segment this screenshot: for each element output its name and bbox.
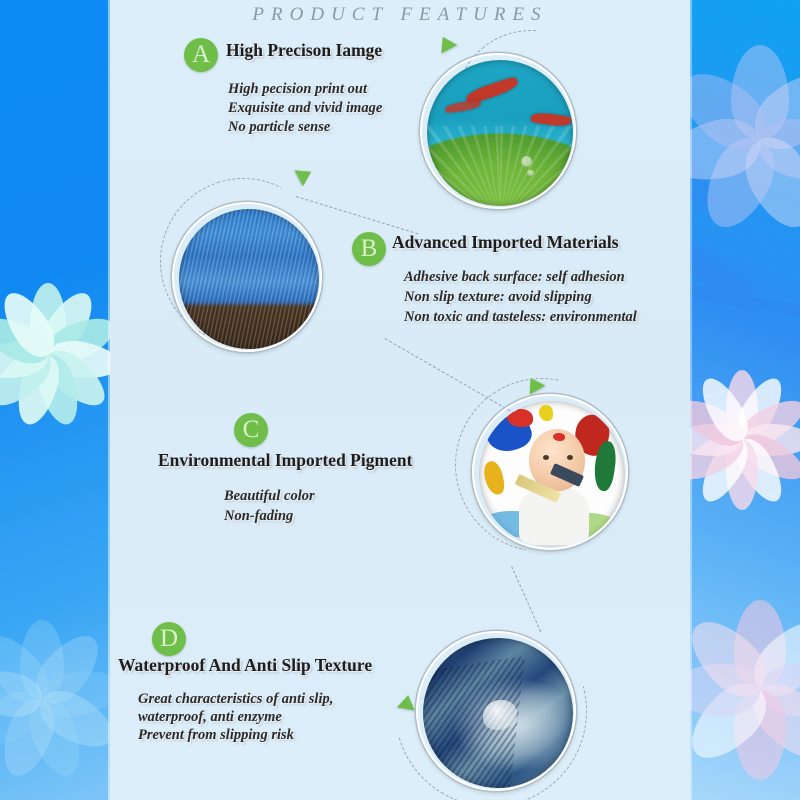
feature-line-a-2: Exquisite and vivid image [228,99,382,118]
page-title: PRODUCT FEATURES [110,4,690,26]
feature-photo-a [415,48,585,218]
feature-photo-c [468,390,636,558]
feature-heading-b: Advanced Imported Materials [392,232,619,253]
feature-heading-d: Waterproof And Anti Slip Texture [118,655,372,676]
feature-line-d-1: Great characteristics of anti slip, [138,690,333,709]
feature-line-b-2: Non slip texture: avoid slipping [404,288,592,307]
feature-line-c-2: Non-fading [224,507,293,526]
feature-photo-d [410,625,585,800]
feature-line-a-1: High pecision print out [228,80,367,99]
badge-letter-c: C [234,413,268,447]
feature-line-d-2: waterproof, anti enzyme [138,708,282,727]
feature-photo-b [168,198,328,358]
feature-line-b-3: Non toxic and tasteless: environmental [404,308,637,327]
badge-letter-b: B [352,232,386,266]
feature-heading-c: Environmental Imported Pigment [158,450,412,471]
badge-letter-a: A [184,38,218,72]
feature-line-a-3: No particle sense [228,118,330,137]
badge-letter-d: D [152,622,186,656]
feature-line-d-3: Prevent from slipping risk [138,726,294,745]
feature-line-c-1: Beautiful color [224,487,315,506]
feature-heading-a: High Precison Iamge [226,40,382,61]
feature-line-b-1: Adhesive back surface: self adhesion [404,268,625,287]
product-features-infographic: PRODUCT FEATURES A High Precison Iamge H… [0,0,800,800]
